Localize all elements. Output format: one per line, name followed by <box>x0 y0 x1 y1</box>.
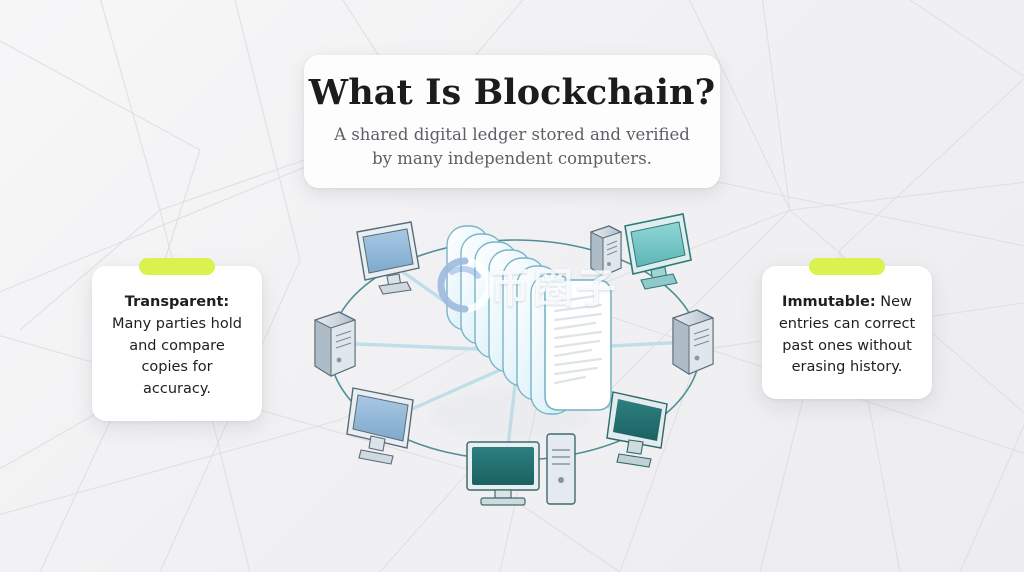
monitor-bottom-right-icon <box>607 392 667 467</box>
callout-pill-tab <box>809 258 885 275</box>
callout-card-transparent: Transparent: Many parties hold and compa… <box>92 266 262 421</box>
callout-pill-tab <box>139 258 215 275</box>
callout-label: Immutable: <box>782 294 876 310</box>
ledger-page-stack <box>447 226 611 414</box>
ledger-front-page <box>545 280 611 410</box>
blockchain-network-illustration <box>295 210 735 510</box>
title-card: What Is Blockchain? A shared digital led… <box>304 55 720 188</box>
monitor-bottom-left-icon <box>347 388 413 464</box>
monitor-bottom-center-icon <box>467 442 539 505</box>
tower-left-icon <box>315 312 355 376</box>
monitor-top-right-icon <box>625 214 691 289</box>
callout-text: Immutable: New entries can correct past … <box>776 292 918 379</box>
infographic-canvas: 币圈子 What Is Blockchain? A shared digital… <box>0 0 1024 572</box>
tower-top-right-icon <box>591 226 621 276</box>
callout-label: Transparent: <box>125 294 229 310</box>
tower-bottom-center-icon <box>547 434 575 504</box>
callout-card-immutable: Immutable: New entries can correct past … <box>762 266 932 399</box>
callout-body: Many parties hold and compare copies for… <box>112 316 242 397</box>
page-title: What Is Blockchain? <box>309 72 715 113</box>
page-subtitle: A shared digital ledger stored and verif… <box>327 123 697 172</box>
tower-right-icon <box>673 310 713 374</box>
monitor-top-left-icon <box>357 222 419 294</box>
callout-text: Transparent: Many parties hold and compa… <box>106 292 248 401</box>
